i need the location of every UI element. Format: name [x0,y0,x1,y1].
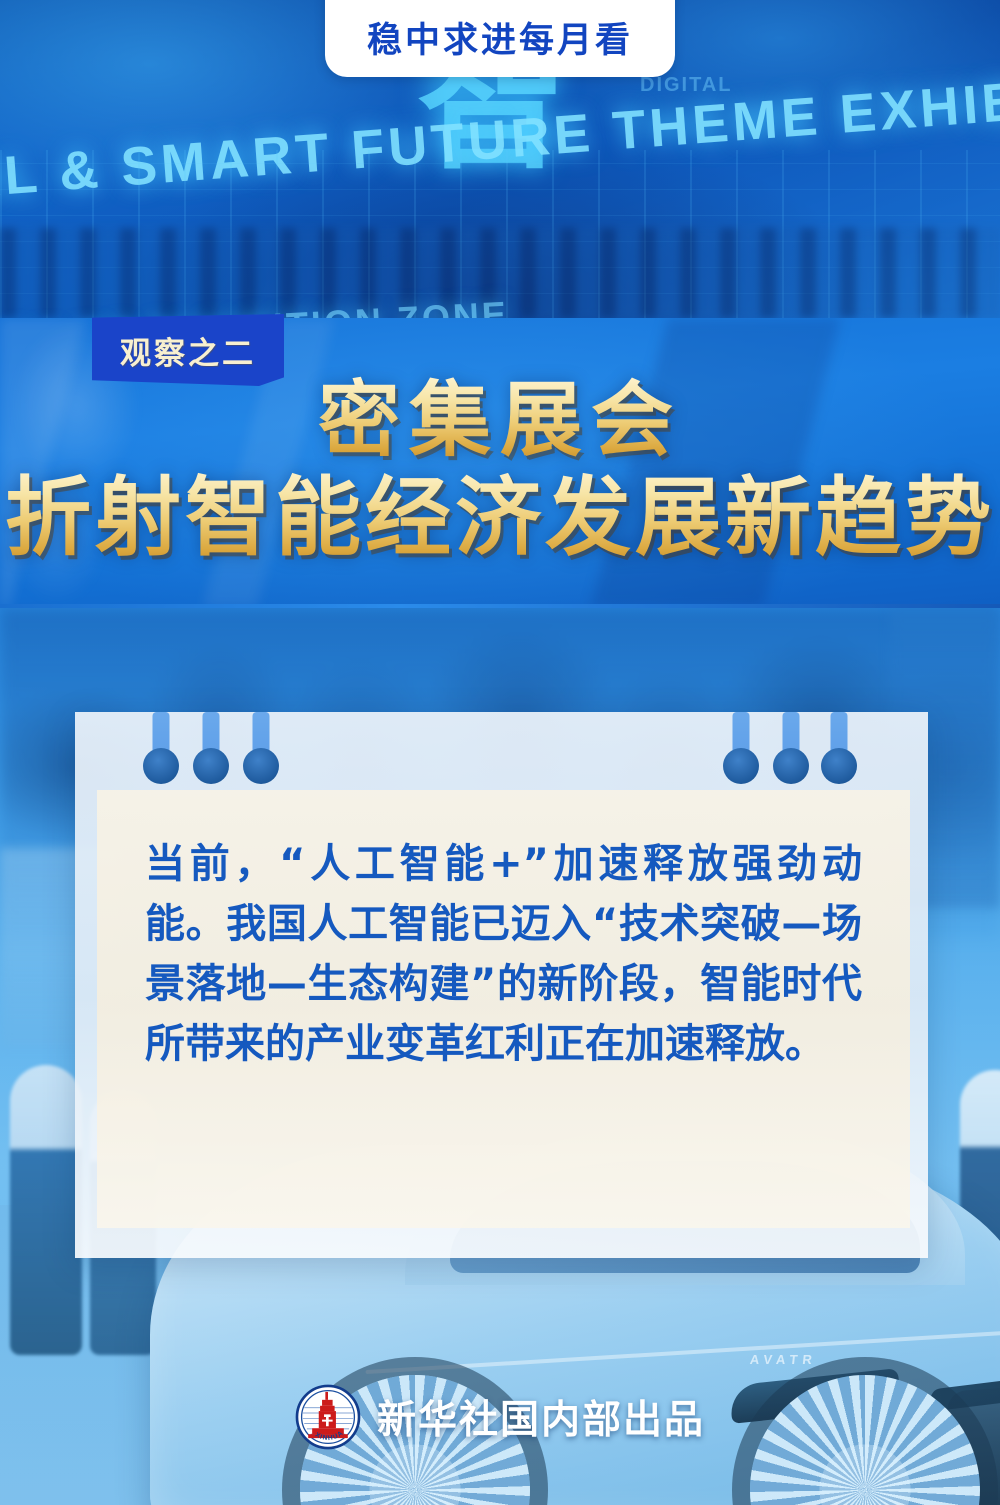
clip-head [773,748,809,784]
clip-head [143,748,179,784]
card-clip [250,712,272,792]
page-title-line2: 折射智能经济发展新趋势 [0,467,1000,568]
card-body-text: 当前，“人工智能+”加速释放强劲动能。我国人工智能已迈入“技术突破—场景落地—生… [145,834,862,1074]
footer-label: 新华社国内部出品 [377,1389,705,1445]
clip-head [243,748,279,784]
clip-head [193,748,229,784]
section-banner: 观察之二 [92,314,284,386]
card-clip [828,712,850,792]
visitor-silhouette [10,1065,82,1355]
header-badge: 稳中求进每月看 [325,0,675,77]
footer: XINHUA 新华社国内部出品 [0,1384,1000,1450]
content-card-body: 当前，“人工智能+”加速释放强劲动能。我国人工智能已迈入“技术突破—场景落地—生… [97,790,910,1228]
card-clip [730,712,752,792]
car-badge: AVATR [749,1352,817,1367]
page-title-line1: 密集展会 [0,376,1000,465]
car-body-line [366,1328,1000,1374]
header-badge-label: 稳中求进每月看 [367,12,633,63]
card-clip [200,712,222,792]
xinhua-logo-icon: XINHUA [295,1384,361,1450]
clip-head [821,748,857,784]
card-clip [150,712,172,792]
poster-root: 智 DIGITAL AL & SMART FUTURE THEME EXHIBI… [0,0,1000,1505]
section-banner-label: 观察之二 [120,328,256,373]
page-title: 密集展会 折射智能经济发展新趋势 [0,376,1000,568]
card-clip [780,712,802,792]
clip-head [723,748,759,784]
